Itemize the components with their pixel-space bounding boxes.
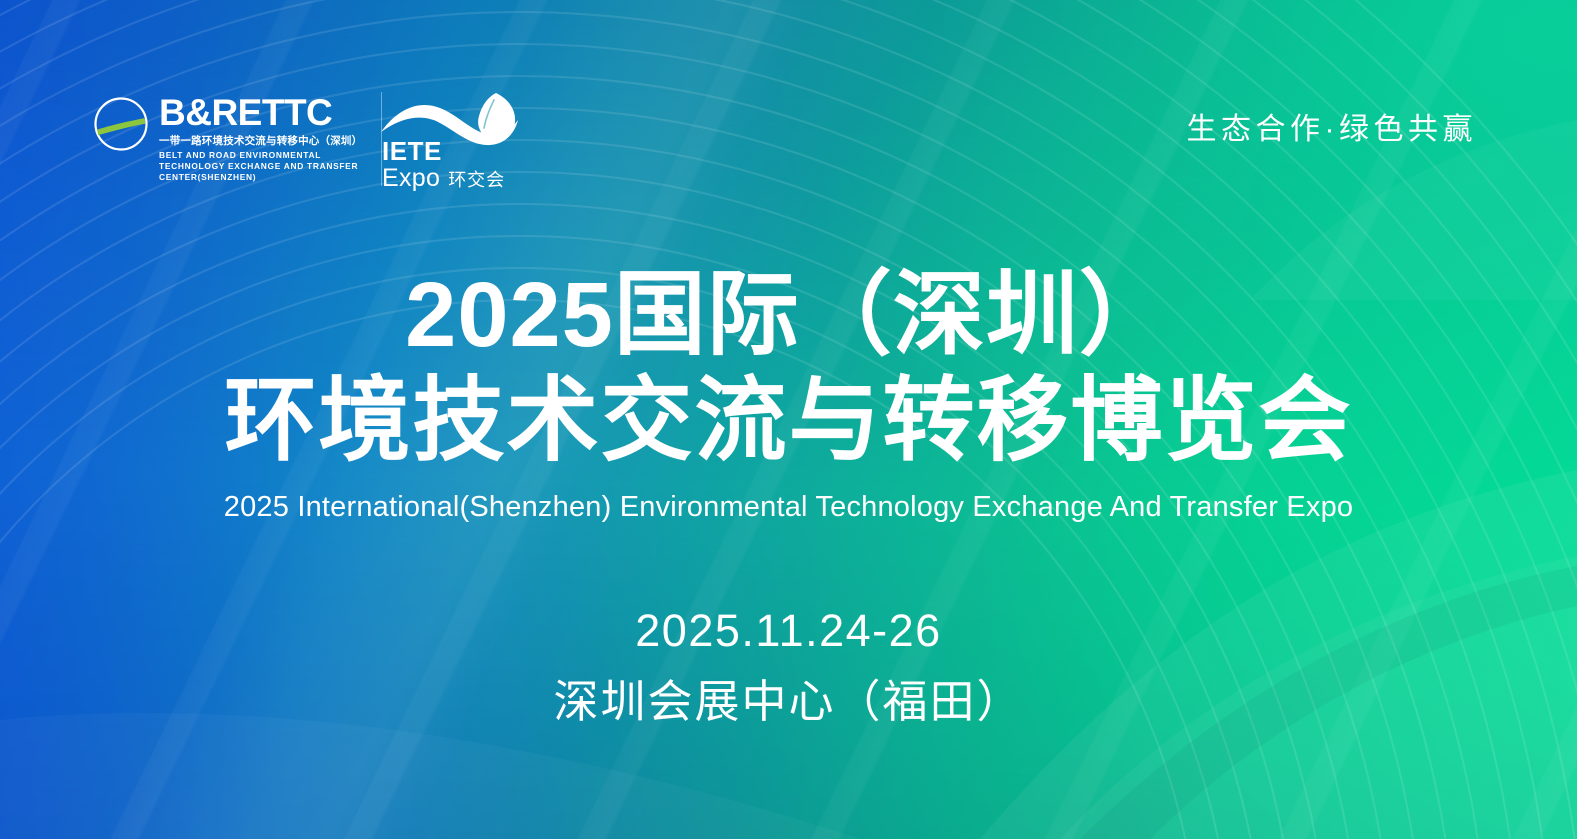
event-date: 2025.11.24-26 bbox=[0, 605, 1577, 657]
banner-header: B&RETTC 一带一路环境技术交流与转移中心（深圳） BELT AND ROA… bbox=[0, 0, 1577, 210]
event-banner: B&RETTC 一带一路环境技术交流与转移中心（深圳） BELT AND ROA… bbox=[0, 0, 1577, 839]
title-chinese-line1: 2025国际（深圳） bbox=[0, 266, 1577, 365]
logo-brettc: B&RETTC 一带一路环境技术交流与转移中心（深圳） BELT AND ROA… bbox=[92, 92, 382, 186]
circle-sash-icon bbox=[92, 95, 150, 153]
logo-brettc-name-cn: 一带一路环境技术交流与转移中心（深圳） bbox=[159, 135, 367, 148]
logo-brettc-wordmark: B&RETTC bbox=[159, 92, 332, 133]
logo-brettc-text: B&RETTC 一带一路环境技术交流与转移中心（深圳） BELT AND ROA… bbox=[159, 92, 367, 183]
title-chinese-line2: 环境技术交流与转移博览会 bbox=[0, 372, 1577, 471]
logo-brettc-name-en: BELT AND ROAD ENVIRONMENTAL TECHNOLOGY E… bbox=[159, 150, 367, 183]
title-english: 2025 International(Shenzhen) Environment… bbox=[0, 491, 1577, 524]
logo-iete-name-cn: 环交会 bbox=[448, 171, 505, 190]
logo-iete-expo: IETE Expo 环交会 bbox=[378, 86, 536, 192]
banner-tagline: 生态合作·绿色共赢 bbox=[1187, 104, 1478, 148]
logo-iete-expo-label: Expo bbox=[382, 165, 440, 191]
logo-iete-abbr: IETE bbox=[382, 138, 505, 164]
logo-iete-text: IETE Expo 环交会 bbox=[382, 138, 505, 191]
event-venue: 深圳会展中心（福田） bbox=[0, 665, 1577, 730]
